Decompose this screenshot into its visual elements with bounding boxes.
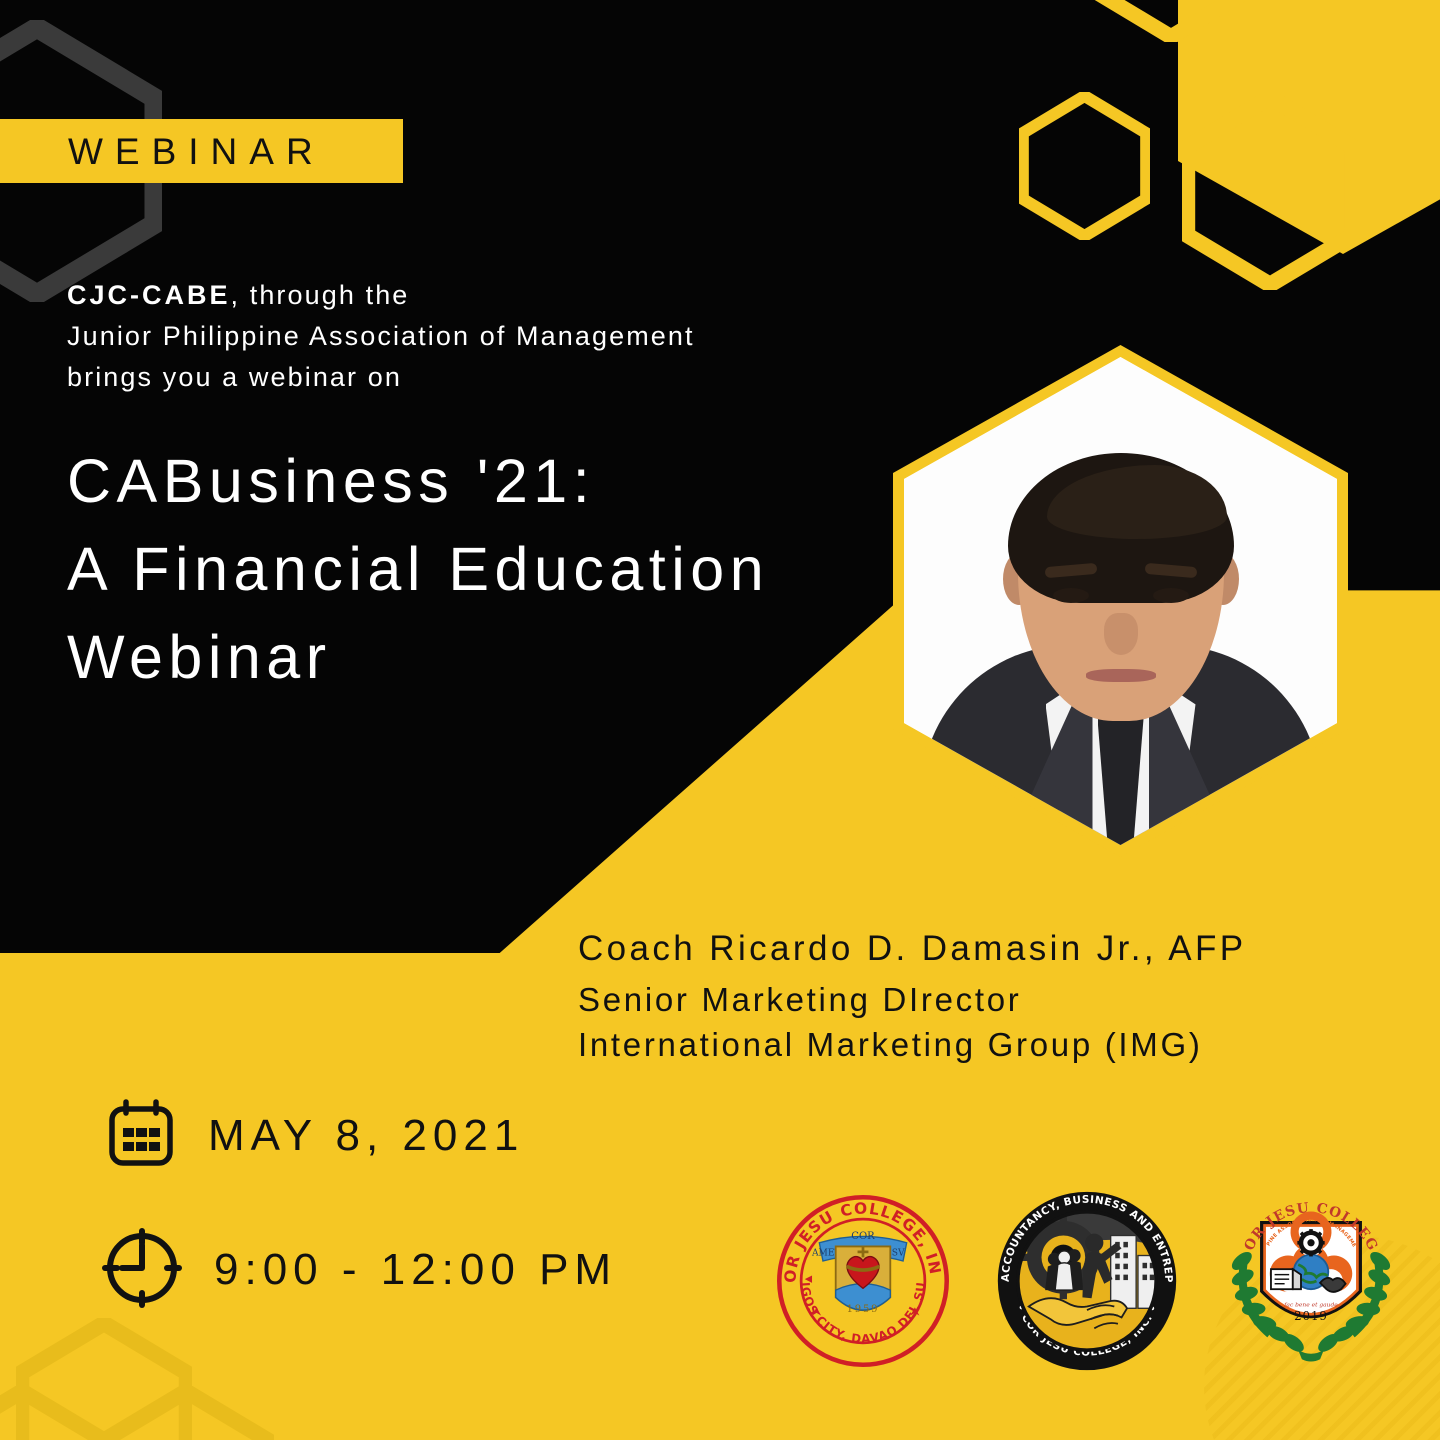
speaker-photo-hexagon [893,345,1348,857]
speaker-name: Coach Ricardo D. Damasin Jr., AFP [578,921,1418,977]
hexagon-outline-faint-c [0,1386,110,1440]
logo-cor-jesu-college: COR JESU COLLEGE, INC. DIGOS CITY, DAVAO… [772,1190,954,1372]
speaker-info-block: Coach Ricardo D. Damasin Jr., AFP Senior… [578,921,1418,1067]
speaker-role-line-2: International Marketing Group (IMG) [578,1022,1418,1067]
title-line-2: A Financial Education [67,525,927,613]
svg-text:fac bene et gaude: fac bene et gaude [1283,1302,1338,1308]
logo-strip: COR JESU COLLEGE, INC. DIGOS CITY, DAVAO… [772,1186,1402,1376]
event-date-row: MAY 8, 2021 [104,1097,524,1175]
speaker-photo-frame [904,357,1337,845]
portrait-mouth [1086,669,1156,682]
page-title: CABusiness '21: A Financial Education We… [67,437,927,701]
clock-icon [100,1226,184,1314]
intro-line-1-rest: , through the [231,280,410,310]
webinar-poster: WEBINAR CJC-CABE, through the Junior Phi… [0,0,1440,1440]
speaker-portrait-image [904,357,1337,845]
portrait-nose [1104,613,1138,655]
intro-line-1: CJC-CABE, through the [67,275,937,316]
portrait-eye-right [1153,588,1189,603]
intro-line-3: brings you a webinar on [67,357,937,398]
svg-text:1959: 1959 [847,1304,880,1315]
event-date-value: MAY 8, 2021 [208,1114,524,1158]
event-time-value: 9:00 - 12:00 PM [214,1248,617,1292]
webinar-badge-label: WEBINAR [68,133,325,170]
intro-text-block: CJC-CABE, through the Junior Philippine … [67,275,937,398]
title-line-1: CABusiness '21: [67,437,927,525]
intro-line-2: Junior Philippine Association of Managem… [67,316,937,357]
hexagon-outline-faint-b [98,1386,274,1440]
hexagon-outline-faint-a [16,1318,192,1440]
title-line-3: Webinar [67,613,927,701]
speaker-role-line-1: Senior Marketing DIrector [578,977,1418,1022]
hexagon-outline-top-b [1019,92,1150,240]
hexagon-outline-top-a [1086,0,1256,42]
webinar-badge: WEBINAR [0,119,403,183]
logo-cabe: COLLEGE OF ACCOUNTANCY, BUSINESS AND ENT… [996,1190,1178,1372]
hexagon-solid-top-right [1178,0,1440,254]
portrait-eye-left [1053,588,1089,603]
event-time-row: 9:00 - 12:00 PM [100,1226,617,1314]
svg-text:2019: 2019 [1294,1309,1328,1323]
logo-jpams: COR JESU COLLEGE JUNIOR PHILIPPINE ASSOC… [1220,1190,1402,1372]
organizer-acronym: CJC-CABE [67,280,231,310]
svg-text:COR: COR [851,1231,875,1242]
hexagon-outline-top-c [1182,92,1358,290]
calendar-icon [104,1097,178,1175]
